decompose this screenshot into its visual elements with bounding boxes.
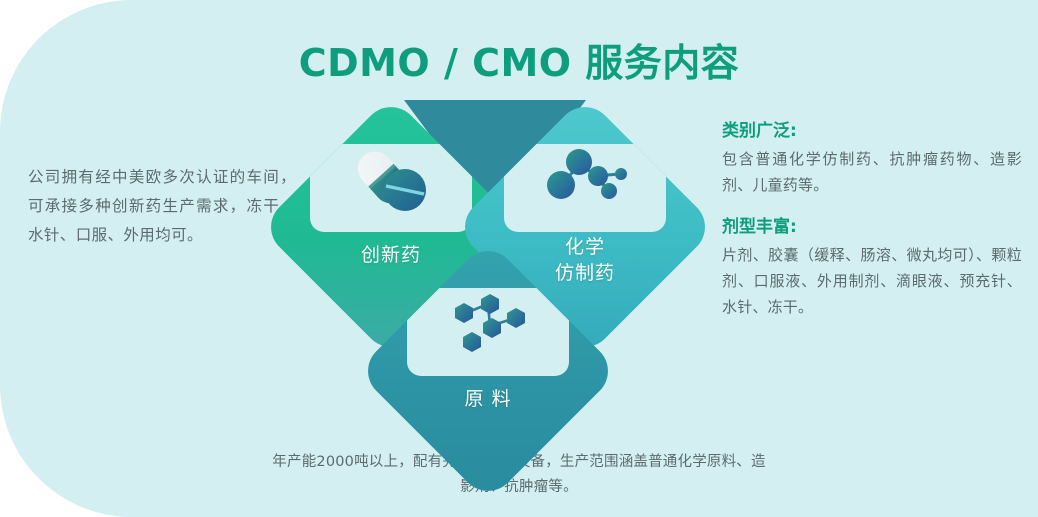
diamond-cluster: 创新药 (300, 96, 680, 426)
right-block-dosage: 剂型丰富: 片剂、胶囊（缓释、肠溶、微丸均可）、颗粒剂、口服液、外用制剂、滴眼液… (722, 214, 1022, 320)
right-block-categories: 类别广泛: 包含普通化学仿制药、抗肿瘤药物、造影剂、儿童药等。 (722, 118, 1022, 198)
generic-drug-label-line2: 仿制药 (555, 262, 615, 284)
categories-heading: 类别广泛: (722, 118, 1022, 144)
diamond-innovative-drug-label: 创新药 (298, 242, 484, 268)
right-column-spacer (722, 198, 1022, 214)
page-title: CDMO / CMO 服务内容 (0, 32, 1038, 87)
right-column: 类别广泛: 包含普通化学仿制药、抗肿瘤药物、造影剂、儿童药等。 剂型丰富: 片剂… (722, 118, 1022, 320)
diamond-raw-material-inner: 原 料 (395, 278, 581, 464)
dosage-body: 片剂、胶囊（缓释、肠溶、微丸均可）、颗粒剂、口服液、外用制剂、滴眼液、预充针、水… (722, 242, 1022, 320)
hexagon-chain-glyph (438, 286, 538, 356)
left-description: 公司拥有经中美欧多次认证的车间，可承接多种创新药生产需求，冻干、水针、口服、外用… (28, 163, 296, 250)
diamond-raw-material-label: 原 料 (395, 386, 581, 412)
categories-body: 包含普通化学仿制药、抗肿瘤药物、造影剂、儿童药等。 (722, 146, 1022, 198)
dosage-heading: 剂型丰富: (722, 214, 1022, 240)
infographic-root: CDMO / CMO 服务内容 公司拥有经中美欧多次认证的车间，可承接多种创新药… (0, 0, 1038, 517)
molecule-glyph (537, 142, 633, 212)
panel-background: CDMO / CMO 服务内容 公司拥有经中美欧多次认证的车间，可承接多种创新药… (0, 0, 1038, 517)
capsule-tablet-glyph (343, 142, 439, 214)
generic-drug-label-line1: 化学 (565, 236, 605, 258)
